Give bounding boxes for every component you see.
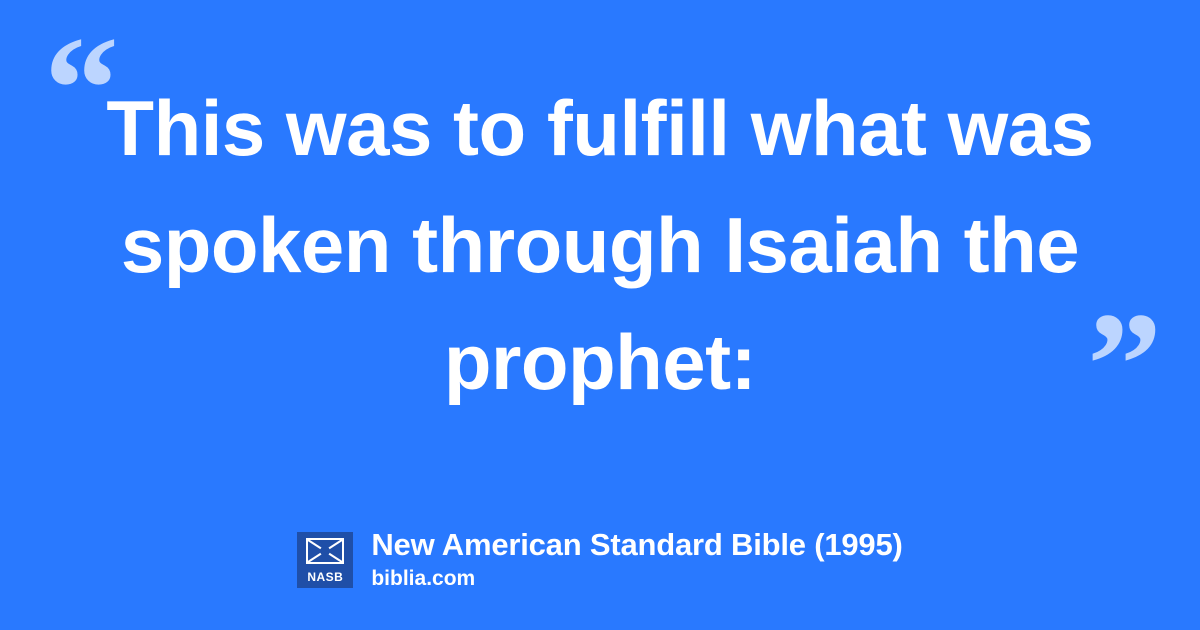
close-quote-icon: ” [1087,290,1158,440]
bible-mark-icon [305,537,345,567]
quote-card: “ This was to fulfill what was spoken th… [0,0,1200,630]
footer: NASB New American Standard Bible (1995) … [0,527,1200,592]
nasb-logo: NASB [297,532,353,588]
nasb-logo-label: NASB [297,570,353,584]
footer-texts: New American Standard Bible (1995) bibli… [371,527,902,592]
source-url: biblia.com [371,565,902,592]
quote-text: This was to fulfill what was spoken thro… [90,70,1110,421]
source-title: New American Standard Bible (1995) [371,527,902,563]
